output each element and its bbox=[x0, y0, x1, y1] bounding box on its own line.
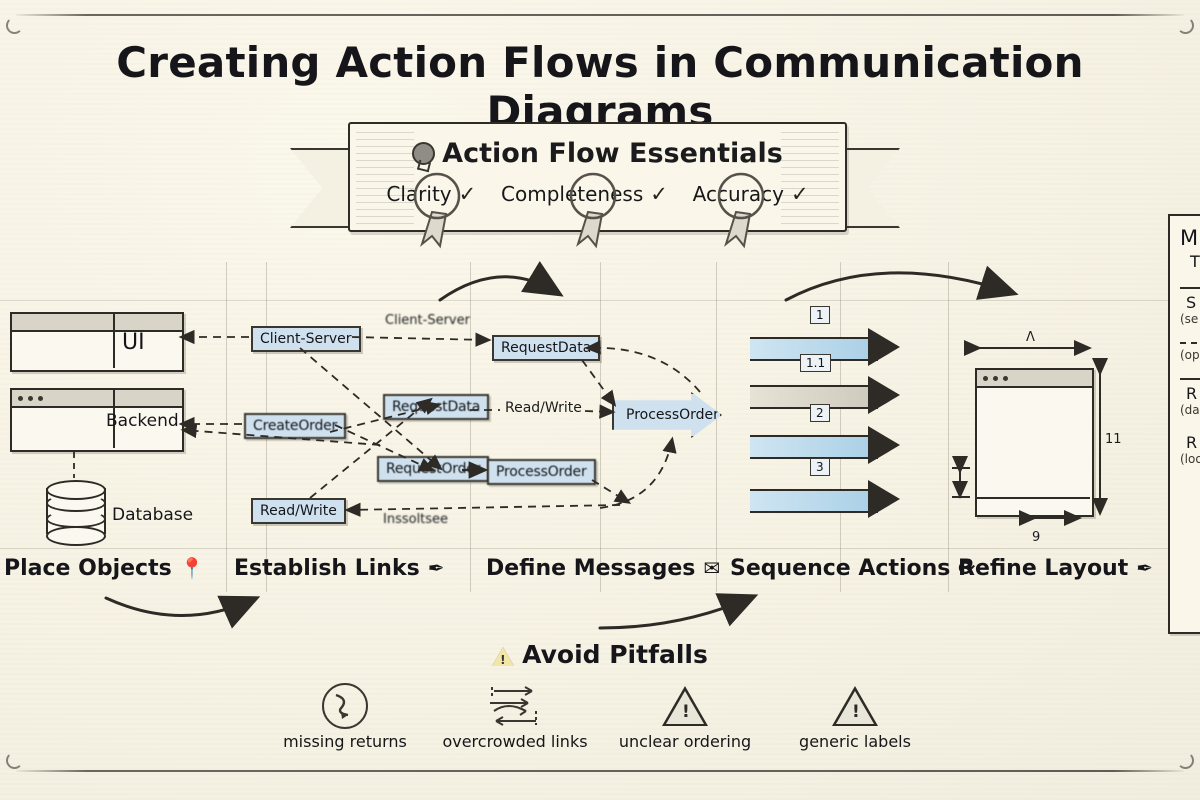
medal-icon bbox=[412, 142, 435, 165]
legend-item-name: R bbox=[1180, 433, 1200, 452]
arrow-head bbox=[868, 480, 900, 518]
frame-border-bottom bbox=[16, 770, 1184, 772]
legend-rule bbox=[1180, 287, 1200, 289]
sequence-arrow-4[interactable]: 3 bbox=[750, 482, 910, 516]
column-divider-4 bbox=[948, 262, 949, 592]
pitfall-caption: missing returns bbox=[270, 732, 420, 751]
object-label-database: Database bbox=[112, 505, 193, 525]
pitfall-caption: generic labels bbox=[780, 732, 930, 751]
dimension-label-right: 11 bbox=[1105, 432, 1122, 447]
legend-item-name: S bbox=[1180, 293, 1200, 312]
edge-label-read-write: Read/Write bbox=[505, 400, 582, 416]
stage-label-place-objects: Place Objects📍 bbox=[4, 556, 205, 581]
stage-label-text: Define Messages bbox=[486, 556, 695, 581]
object-label-ui: UI bbox=[122, 330, 145, 355]
pitfall-generic-labels: generic labels bbox=[780, 680, 930, 751]
legend-subtitle: T bbox=[1180, 252, 1200, 271]
corner-curl-top-right bbox=[1177, 17, 1194, 34]
sequence-number-1-1: 1.1 bbox=[800, 354, 831, 372]
warning-triangle-icon bbox=[610, 680, 760, 732]
corner-curl-bottom-right bbox=[1177, 752, 1194, 769]
arrow-head bbox=[868, 426, 900, 464]
column-divider-2 bbox=[470, 262, 471, 592]
db-top bbox=[46, 480, 106, 500]
pitfalls-title: Avoid Pitfalls bbox=[0, 640, 1200, 669]
window-dot bbox=[983, 376, 988, 381]
banner-item-label: Accuracy bbox=[693, 182, 784, 206]
corner-curl-top-left bbox=[6, 17, 23, 34]
layout-mock-window[interactable] bbox=[975, 368, 1094, 517]
sequence-number-1: 1 bbox=[810, 306, 830, 324]
sequence-number-2: 2 bbox=[810, 404, 830, 422]
stage-label-text: Sequence Actions bbox=[730, 556, 950, 581]
arrow-head bbox=[868, 376, 900, 414]
banner-item-list: Clarity✓ Completeness✓ Accuracy✓ bbox=[350, 182, 845, 206]
message-box-process-order[interactable]: ProcessOrder bbox=[487, 459, 596, 485]
legend-item-4: R (loo bbox=[1180, 433, 1200, 466]
banner-body: Action Flow Essentials Clarity✓ Complete… bbox=[348, 122, 847, 232]
window-dot bbox=[28, 396, 33, 401]
edge-label-instance: Inssoltsee bbox=[383, 512, 448, 527]
map-pin-icon: 📍 bbox=[180, 556, 205, 580]
warning-triangle-icon bbox=[492, 647, 514, 666]
sequence-number-3: 3 bbox=[810, 458, 830, 476]
legend-item-3: R (da bbox=[1180, 378, 1200, 417]
link-box-request-order[interactable]: RequestOrder bbox=[377, 456, 489, 482]
return-arrow-circle-icon bbox=[270, 680, 420, 732]
check-icon: ✓ bbox=[459, 182, 477, 206]
stage-label-define-messages: Define Messages✉ bbox=[486, 556, 720, 581]
legend-item-1: S (se bbox=[1180, 287, 1200, 326]
check-icon: ✓ bbox=[650, 182, 668, 206]
pen-icon: ✒ bbox=[1136, 556, 1153, 580]
stage-label-establish-links: Establish Links✒ bbox=[234, 556, 444, 581]
banner-heading-text: Action Flow Essentials bbox=[442, 138, 783, 169]
pitfall-unclear-ordering: unclear ordering bbox=[610, 680, 760, 751]
pitfalls-list: missing returns overcrowded links unclea… bbox=[270, 680, 930, 751]
legend-item-sub: (da bbox=[1180, 403, 1200, 417]
legend-rule bbox=[1180, 342, 1200, 344]
arrow-shaft bbox=[750, 435, 878, 459]
stage-label-text: Refine Layout bbox=[958, 556, 1128, 581]
window-dot bbox=[1003, 376, 1008, 381]
banner-heading: Action Flow Essentials bbox=[350, 138, 845, 169]
warning-triangle-icon bbox=[780, 680, 930, 732]
dimension-label-bottom: 9 bbox=[1032, 530, 1040, 545]
stage-label-text: Establish Links bbox=[234, 556, 420, 581]
stage-label-sequence-actions: Sequence Actions⟳ bbox=[730, 556, 975, 581]
window-dot bbox=[38, 396, 43, 401]
stage-label-text: Place Objects bbox=[4, 556, 172, 581]
arrow-shaft bbox=[750, 489, 878, 513]
db-bottom bbox=[46, 526, 106, 546]
tangled-arrows-icon bbox=[440, 680, 590, 732]
link-box-request-data[interactable]: RequestData bbox=[383, 394, 489, 420]
sequence-arrow-2[interactable]: 1.1 bbox=[750, 378, 910, 412]
link-box-read-write[interactable]: Read/Write bbox=[251, 498, 346, 524]
legend-item-sub: (oper bbox=[1180, 348, 1200, 362]
message-box-request-data[interactable]: RequestData bbox=[492, 335, 600, 361]
banner-item-accuracy: Accuracy✓ bbox=[693, 182, 809, 206]
banner-item-clarity: Clarity✓ bbox=[386, 182, 476, 206]
envelope-icon: ✉ bbox=[703, 556, 720, 580]
banner-item-label: Clarity bbox=[386, 182, 451, 206]
grid-guide-b bbox=[600, 262, 601, 592]
link-box-client-server[interactable]: Client-Server bbox=[251, 326, 361, 352]
legend-title: M bbox=[1180, 226, 1200, 250]
object-database-cylinder[interactable] bbox=[46, 480, 102, 542]
grid-guide-c bbox=[840, 262, 841, 592]
pitfall-caption: overcrowded links bbox=[440, 732, 590, 751]
window-dot bbox=[993, 376, 998, 381]
column-divider-1 bbox=[226, 262, 227, 592]
stage-label-refine-layout: Refine Layout✒ bbox=[958, 556, 1153, 581]
legend-rule bbox=[1180, 378, 1200, 380]
arrow-head bbox=[868, 328, 900, 366]
banner-item-label: Completeness bbox=[501, 182, 643, 206]
link-box-create-order[interactable]: CreateOrder bbox=[244, 413, 346, 439]
message-arrow-label: ProcessOrder bbox=[626, 407, 719, 423]
window-dot bbox=[18, 396, 23, 401]
edge-label-client-server: Client-Server bbox=[385, 313, 470, 328]
pen-icon: ✒ bbox=[428, 556, 445, 580]
object-label-backend: Backend bbox=[106, 411, 179, 431]
legend-item-2: (oper bbox=[1180, 342, 1200, 362]
frame-border-top bbox=[16, 14, 1184, 16]
pitfalls-title-text: Avoid Pitfalls bbox=[522, 640, 708, 669]
check-icon: ✓ bbox=[791, 182, 809, 206]
banner-item-completeness: Completeness✓ bbox=[501, 182, 668, 206]
layout-inner-divider bbox=[975, 497, 1090, 499]
legend-item-name: R bbox=[1180, 384, 1200, 403]
banner: Action Flow Essentials Clarity✓ Complete… bbox=[290, 112, 900, 252]
pitfall-overcrowded-links: overcrowded links bbox=[440, 680, 590, 751]
window-titlebar bbox=[977, 370, 1092, 388]
sequence-arrow-3[interactable]: 2 bbox=[750, 428, 910, 462]
dimension-label-top: Λ bbox=[1026, 330, 1035, 345]
column-divider-3 bbox=[716, 262, 717, 592]
pitfall-caption: unclear ordering bbox=[610, 732, 760, 751]
pitfall-missing-returns: missing returns bbox=[270, 680, 420, 751]
legend-panel: M T S (se (oper R (da R (loo bbox=[1168, 214, 1200, 634]
corner-curl-bottom-left bbox=[6, 752, 23, 769]
legend-item-sub: (se bbox=[1180, 312, 1200, 326]
legend-item-sub: (loo bbox=[1180, 452, 1200, 466]
